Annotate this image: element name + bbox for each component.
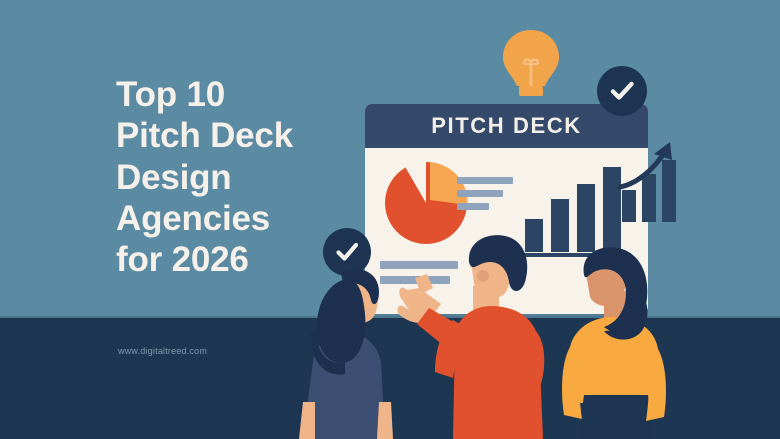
lightbulb-icon: [500, 28, 562, 104]
person-right: [556, 243, 691, 439]
board-title: PITCH DECK: [431, 113, 581, 139]
check-badge: [597, 66, 647, 116]
person-center: [395, 232, 575, 439]
placeholder-line: [457, 177, 513, 184]
watermark-url: www.digitaltreed.com: [118, 346, 207, 356]
bar: [603, 167, 621, 252]
person-left: [285, 262, 405, 439]
growth-bar: [662, 160, 676, 222]
placeholder-line: [457, 203, 489, 210]
check-circle-icon: [608, 77, 636, 105]
growth-chart: [622, 140, 700, 222]
banner-canvas: Top 10 Pitch Deck Design Agencies for 20…: [0, 0, 780, 439]
placeholder-line: [457, 190, 503, 197]
growth-bar: [622, 190, 636, 222]
bar: [577, 184, 595, 252]
growth-bar: [642, 174, 656, 222]
